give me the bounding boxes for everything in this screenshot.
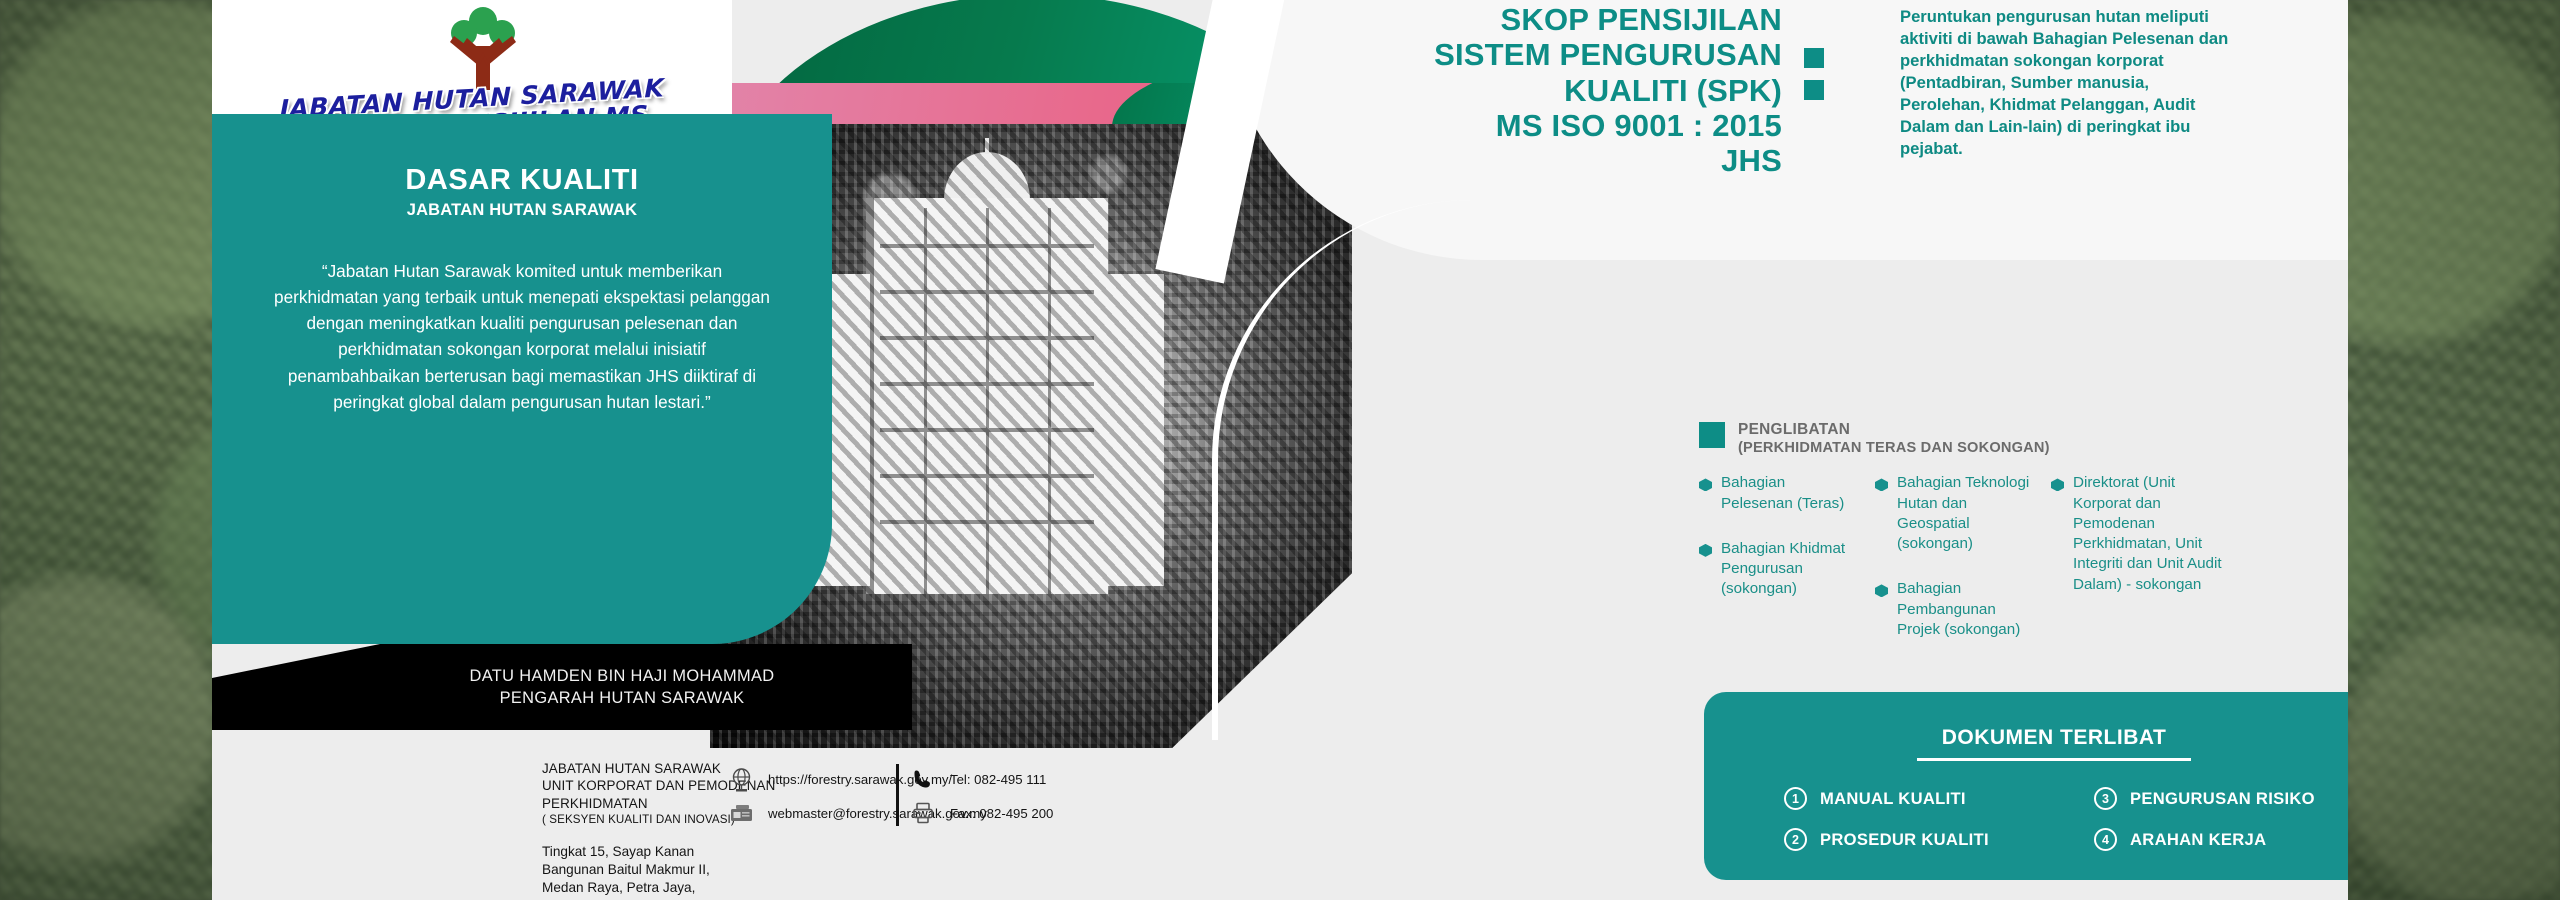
page-title: DASAR KUALITI [212,164,832,197]
dokumen-label: MANUAL KUALITI [1820,789,1966,809]
penglibatan-heading: PENGLIBATAN [1738,420,2050,439]
signatory-name: DATU HAMDEN BIN HAJI MOHAMMAD [470,667,775,685]
fax-number: Fax: 082-495 200 [950,806,1053,821]
dokumen-terlibat-card: DOKUMEN TERLIBAT 1 MANUAL KUALITI 3 PENG… [1704,692,2348,880]
telephone-number: Tel: 082-495 111 [950,772,1046,787]
hex-bullet-icon [1875,584,1888,597]
phone-icon [906,767,940,791]
penglibatan-column-1: Bahagian Pelesenan (Teras) Bahagian Khid… [1699,473,1856,665]
list-item: 2 PROSEDUR KUALITI [1784,828,2094,851]
list-item: Direktorat (Unit Korporat dan Pemodenan … [2051,473,2231,594]
dokumen-label: PROSEDUR KUALITI [1820,830,1989,850]
hex-bullet-icon [1699,544,1712,557]
list-item: Bahagian Pelesenan (Teras) [1699,473,1856,513]
scope-description: Peruntukan pengurusan hutan meliputi akt… [1900,6,2230,160]
org-line-1: JABATAN HUTAN SARAWAK [542,761,721,776]
penglibatan-section: PENGLIBATAN (PERKHIDMATAN TERAS DAN SOKO… [1699,420,2348,665]
page-subtitle: JABATAN HUTAN SARAWAK [212,201,832,220]
scope-title: SKOP PENSIJILANSISTEM PENGURUSANKUALITI … [1262,2,1782,179]
penglibatan-column-3: Direktorat (Unit Korporat dan Pemodenan … [2051,473,2231,665]
teal-square-marker [1699,422,1725,448]
dokumen-title: DOKUMEN TERLIBAT [1704,692,2348,750]
contact-divider [896,764,899,826]
badge-number: 4 [2094,828,2117,851]
dokumen-label: ARAHAN KERJA [2130,830,2266,850]
penglibatan-subheading: (PERKHIDMATAN TERAS DAN SOKONGAN) [1738,439,2050,457]
globe-icon [724,767,758,792]
dasar-kualiti-card: DASAR KUALITI JABATAN HUTAN SARAWAK “Jab… [212,114,832,644]
dokumen-label: PENGURUSAN RISIKO [2130,789,2315,809]
list-item: Bahagian Pembangunan Projek (sokongan) [1875,579,2032,640]
list-item: Bahagian Khidmat Pengurusan (sokongan) [1699,539,1856,600]
list-item: 4 ARAHAN KERJA [2094,828,2348,851]
badge-number: 1 [1784,787,1807,810]
hex-bullet-icon [2051,478,2064,491]
equals-icon [1804,48,1824,100]
signatory-title: PENGARAH HUTAN SARAWAK [500,689,745,707]
addr-line-1: Tingkat 15, Sayap Kanan [542,844,694,859]
hex-bullet-icon [1875,478,1888,491]
tree-icon [446,6,520,90]
printer-icon [906,801,940,825]
phone-contact-group: Tel: 082-495 111 Fax: 082-495 200 [906,762,1053,830]
footer-contact-strip: JABATAN HUTAN SARAWAK UNIT KORPORAT DAN … [212,744,1392,900]
infographic-poster: JABATAN HUTAN SARAWAK KE ARAH PENSIJILAN… [212,0,2348,900]
badge-number: 2 [1784,828,1807,851]
mail-icon [724,803,758,823]
list-item: Bahagian Teknologi Hutan dan Geospatial … [1875,473,2032,554]
hex-bullet-icon [1699,478,1712,491]
org-line-3: PERKHIDMATAN [542,796,648,811]
penglibatan-column-2: Bahagian Teknologi Hutan dan Geospatial … [1875,473,2032,665]
list-item: 3 PENGURUSAN RISIKO [2094,787,2348,810]
badge-number: 3 [2094,787,2117,810]
addr-line-2: Bangunan Baitul Makmur II, [542,862,710,877]
quality-policy-quote: “Jabatan Hutan Sarawak komited untuk mem… [270,258,774,415]
list-item: 1 MANUAL KUALITI [1784,787,2094,810]
signatory-band: DATU HAMDEN BIN HAJI MOHAMMAD PENGARAH H… [212,644,912,730]
addr-line-3: Medan Raya, Petra Jaya, [542,880,695,895]
